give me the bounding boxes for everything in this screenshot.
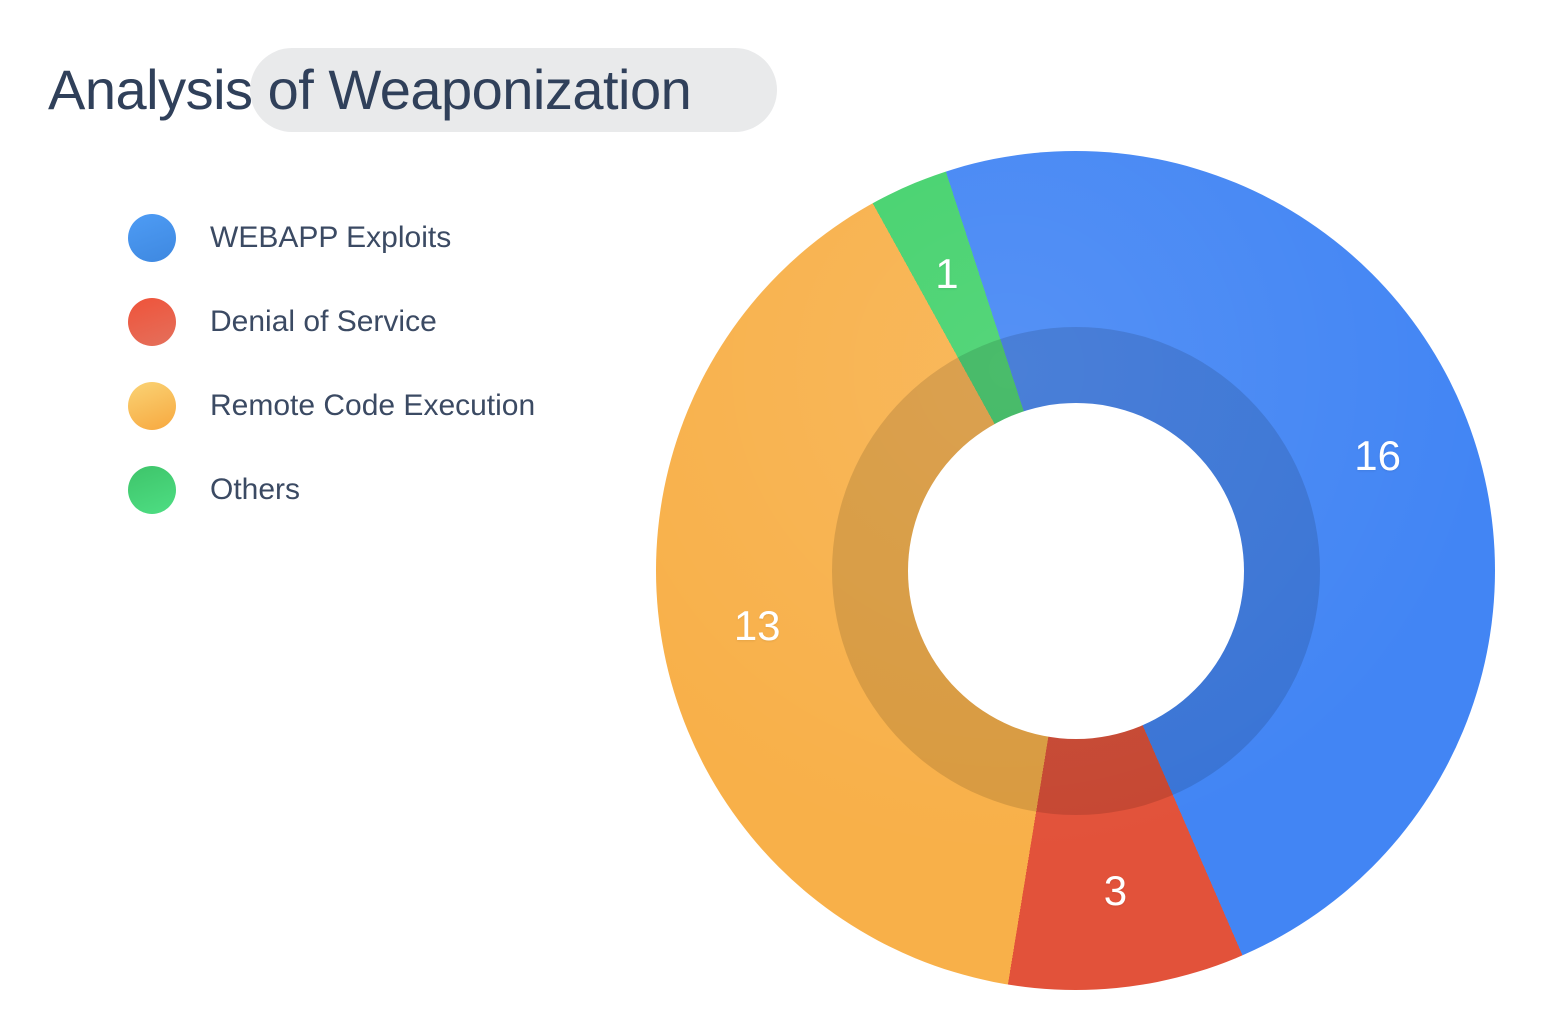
donut-center-hole xyxy=(908,403,1244,739)
page-title: Analysis of Weaponization xyxy=(48,48,691,132)
circle-swatch-icon xyxy=(128,382,176,430)
circle-swatch-icon xyxy=(128,298,176,346)
circle-swatch-icon xyxy=(128,214,176,262)
legend-item-label: Remote Code Execution xyxy=(210,389,535,423)
page-title-text: Analysis of Weaponization xyxy=(48,48,691,132)
slice-value-label: 3 xyxy=(1104,870,1127,912)
legend-item-label: WEBAPP Exploits xyxy=(210,221,451,255)
legend-item-label: Denial of Service xyxy=(210,305,437,339)
donut-chart: 163131 xyxy=(656,151,1495,990)
slice-value-label: 13 xyxy=(734,605,781,647)
legend-item-denial-of-service[interactable]: Denial of Service xyxy=(128,280,535,364)
circle-swatch-icon xyxy=(128,466,176,514)
chart-canvas: Analysis of Weaponization WEBAPP Exploit… xyxy=(0,0,1555,1015)
legend-item-others[interactable]: Others xyxy=(128,448,535,532)
legend-item-label: Others xyxy=(210,473,300,507)
chart-legend: WEBAPP Exploits Denial of Service Remote… xyxy=(128,196,535,532)
legend-item-remote-code-execution[interactable]: Remote Code Execution xyxy=(128,364,535,448)
slice-value-label: 16 xyxy=(1354,435,1401,477)
slice-value-label: 1 xyxy=(935,253,958,295)
legend-item-webapp-exploits[interactable]: WEBAPP Exploits xyxy=(128,196,535,280)
